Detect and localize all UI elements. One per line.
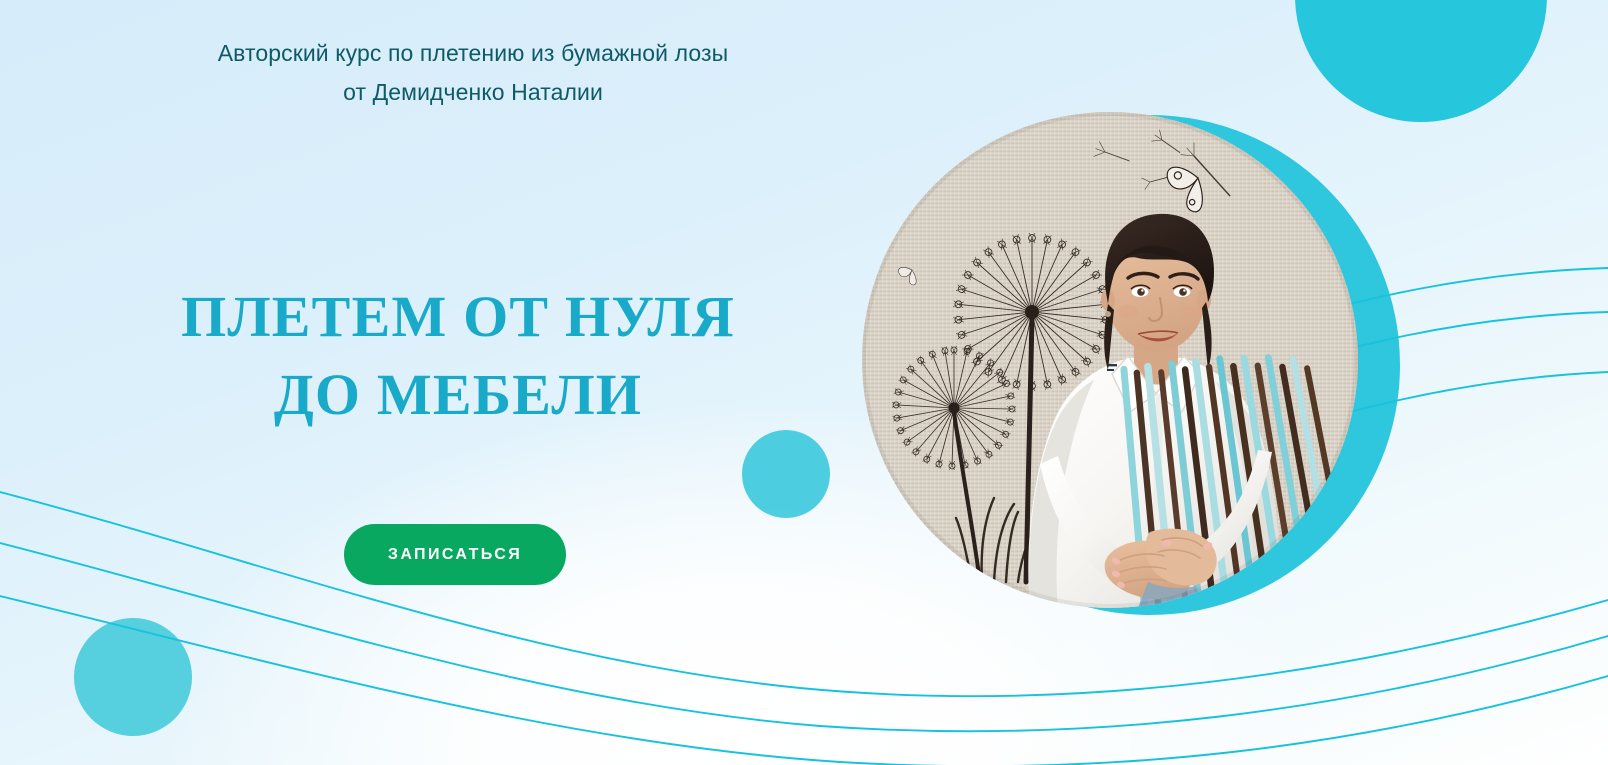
accent-circle-top-right [1295,0,1547,122]
page-title: ПЛЕТЕМ ОТ НУЛЯ ДО МЕБЕЛИ [118,278,798,434]
accent-circle-bottom-left [74,618,192,736]
hero-section: Авторский курс по плетению из бумажной л… [0,0,1608,765]
signup-button[interactable]: ЗАПИСАТЬСЯ [344,524,566,585]
accent-circle-middle [742,430,830,518]
course-subtitle: Авторский курс по плетению из бумажной л… [120,34,826,112]
portrait-image [862,112,1358,608]
instructor-portrait [862,112,1358,608]
